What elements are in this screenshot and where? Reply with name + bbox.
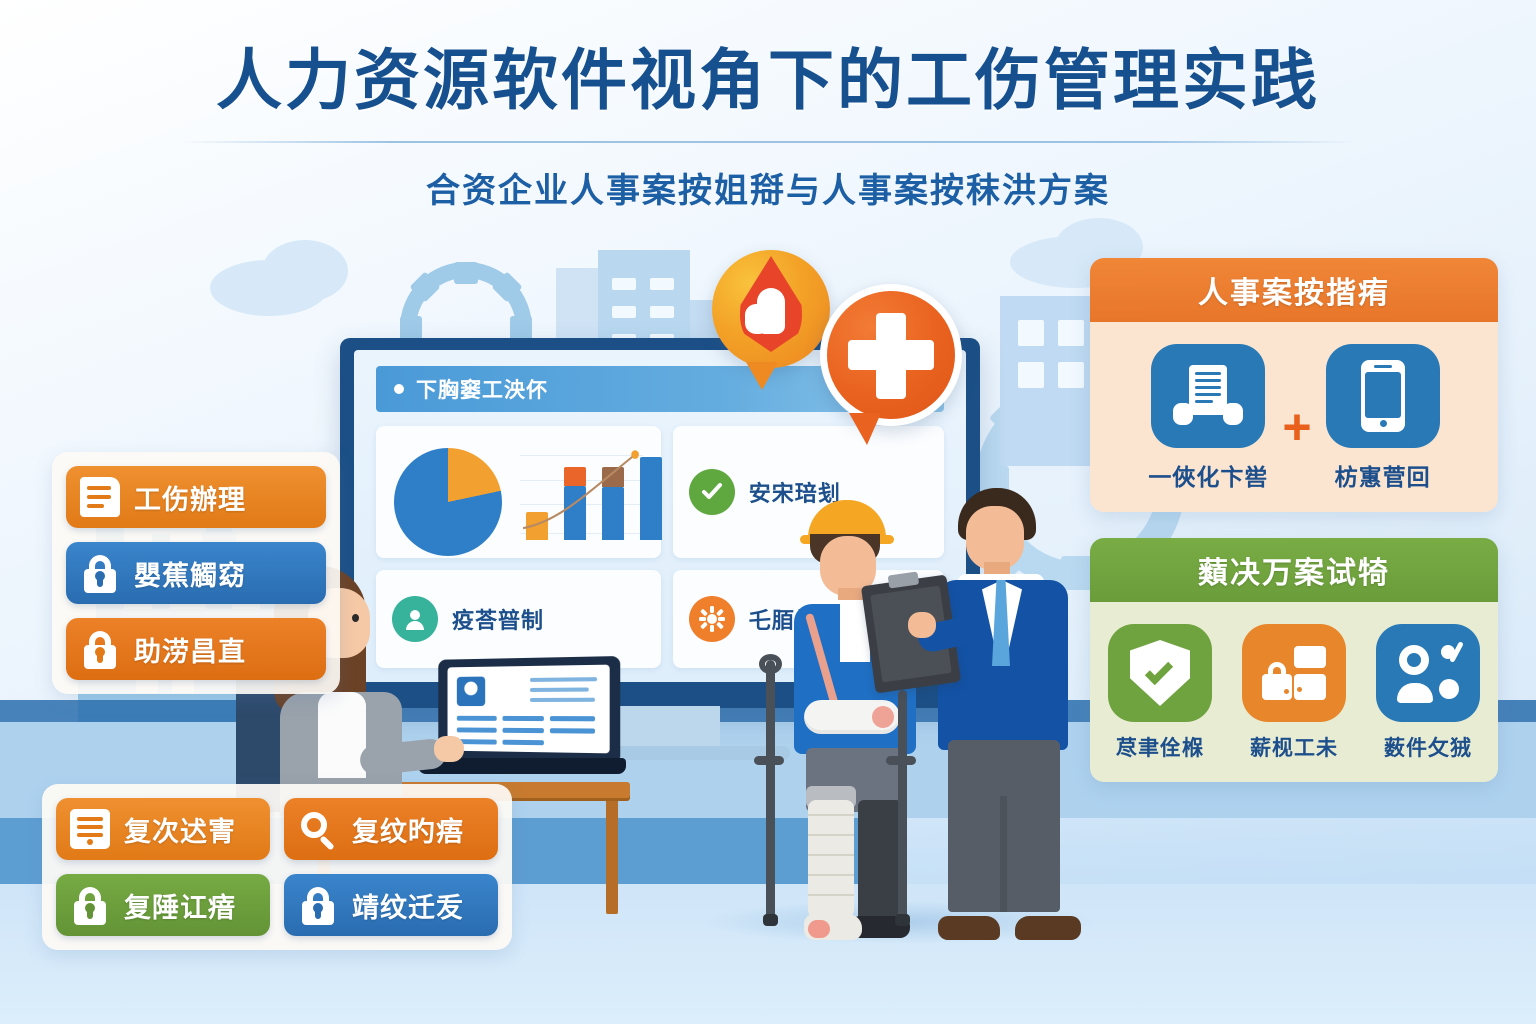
desk-leg <box>606 796 618 914</box>
left-card-gongshang-banli[interactable]: 工伤辦理 <box>66 466 326 528</box>
lock-icon <box>70 885 110 925</box>
panel-orange-body: 一俠化卞喾 + 枋寭菅回 <box>1090 322 1498 512</box>
tile-mobile-phone[interactable]: 枋寭菅回 <box>1326 344 1440 492</box>
tile-person-gear[interactable]: 薮件攵狨 <box>1376 624 1480 762</box>
tile-label: 薮件攵狨 <box>1384 732 1472 762</box>
bottom-card-4[interactable]: 靖纹迁叐 <box>284 874 498 936</box>
search-icon <box>298 809 338 849</box>
document-icon <box>80 477 120 517</box>
shield-check-icon <box>1130 640 1190 706</box>
page-subtitle: 合资企业人事案按姐搿与人事案按秣洪方案 <box>0 163 1536 212</box>
crutch-icon <box>898 690 907 922</box>
pie-chart-icon <box>394 448 502 556</box>
bar-chart-icon <box>520 446 643 540</box>
people-illustration <box>770 470 1070 940</box>
page-header: 人力资源软件视角下的工伤管理实践 合资企业人事案按姐搿与人事案按秣洪方案 <box>0 0 1536 212</box>
bottom-card-1[interactable]: 复次迖寈 <box>56 798 270 860</box>
tile-label: 一俠化卞喾 <box>1148 458 1268 492</box>
arm-cast-icon <box>804 700 900 734</box>
mobile-phone-icon <box>1361 360 1405 432</box>
leg-cast-icon <box>808 800 854 918</box>
chart-area <box>388 436 649 548</box>
hr-manager-figure <box>922 488 1087 940</box>
chart-card[interactable] <box>376 426 661 558</box>
screen-header-text: 下胸窭工泱伓 <box>416 374 548 404</box>
gear-circle-icon <box>689 596 735 642</box>
panel-hr-records: 人事案按揩痏 一俠化卞喾 + <box>1090 258 1498 512</box>
left-card-third[interactable]: 助涝昌直 <box>66 618 326 680</box>
tile-lock-device[interactable]: 薪枧工未 <box>1242 624 1346 762</box>
lock-icon <box>80 553 120 593</box>
pointing-hand-icon <box>757 288 785 334</box>
panel-orange-tiles: 一俠化卞喾 + 枋寭菅回 <box>1108 344 1480 492</box>
hand-alert-icon <box>712 250 830 368</box>
bottom-card-2[interactable]: 复纹旳痦 <box>284 798 498 860</box>
tile-label: 薪枧工未 <box>1250 732 1338 762</box>
tile-document-in-hands[interactable]: 一俠化卞喾 <box>1148 344 1268 492</box>
left-card-label: 嬰蕉觸窈 <box>134 554 246 593</box>
plus-symbol: + <box>1282 398 1311 456</box>
bottom-card-label: 复纹旳痦 <box>352 810 464 849</box>
document-in-hands-icon <box>1175 365 1241 427</box>
left-feature-card-stack: 工伤辦理 嬰蕉觸窈 助涝昌直 <box>52 452 340 694</box>
lock-icon <box>80 629 120 669</box>
bottom-card-3[interactable]: 复陲讧瘖 <box>56 874 270 936</box>
left-card-label: 工伤辦理 <box>134 478 246 517</box>
check-circle-icon <box>689 469 735 515</box>
panel-green-header: 蘱决万案试犄 <box>1090 538 1498 602</box>
bullet-dot-icon <box>394 384 404 394</box>
bottom-card-label: 复陲讧瘖 <box>124 886 236 925</box>
panel-green-body: 荩聿佺椺 薪枧工未 <box>1090 602 1498 782</box>
bottom-card-label: 复次迖寈 <box>124 810 236 849</box>
medical-cross-icon <box>820 284 962 426</box>
crutch-icon <box>766 660 775 922</box>
panel-orange-header: 人事案按揩痏 <box>1090 258 1498 322</box>
bottom-feature-grid: 复次迖寈 复纹旳痦 复陲讧瘖 靖纹迁叐 <box>42 784 512 950</box>
page-title: 人力资源软件视角下的工伤管理实践 <box>0 46 1536 115</box>
title-divider <box>178 141 1358 143</box>
injured-worker-figure <box>780 500 930 940</box>
panel-green-tiles: 荩聿佺椺 薪枧工未 <box>1108 624 1480 762</box>
tile-shield-check[interactable]: 荩聿佺椺 <box>1108 624 1212 762</box>
lock-device-icon <box>1262 646 1326 700</box>
trend-line-icon <box>520 446 643 540</box>
cloud-icon <box>262 240 348 302</box>
tile-label: 荩聿佺椺 <box>1116 732 1204 762</box>
panel-solutions: 蘱决万案试犄 荩聿佺椺 薪枧工未 <box>1090 538 1498 782</box>
person-gear-icon <box>1395 643 1461 703</box>
device-icon <box>70 809 110 849</box>
lock-icon <box>298 885 338 925</box>
tile-label: 枋寭菅回 <box>1335 458 1431 492</box>
left-card-second[interactable]: 嬰蕉觸窈 <box>66 542 326 604</box>
left-card-label: 助涝昌直 <box>134 630 246 669</box>
bottom-card-label: 靖纹迁叐 <box>352 886 464 925</box>
